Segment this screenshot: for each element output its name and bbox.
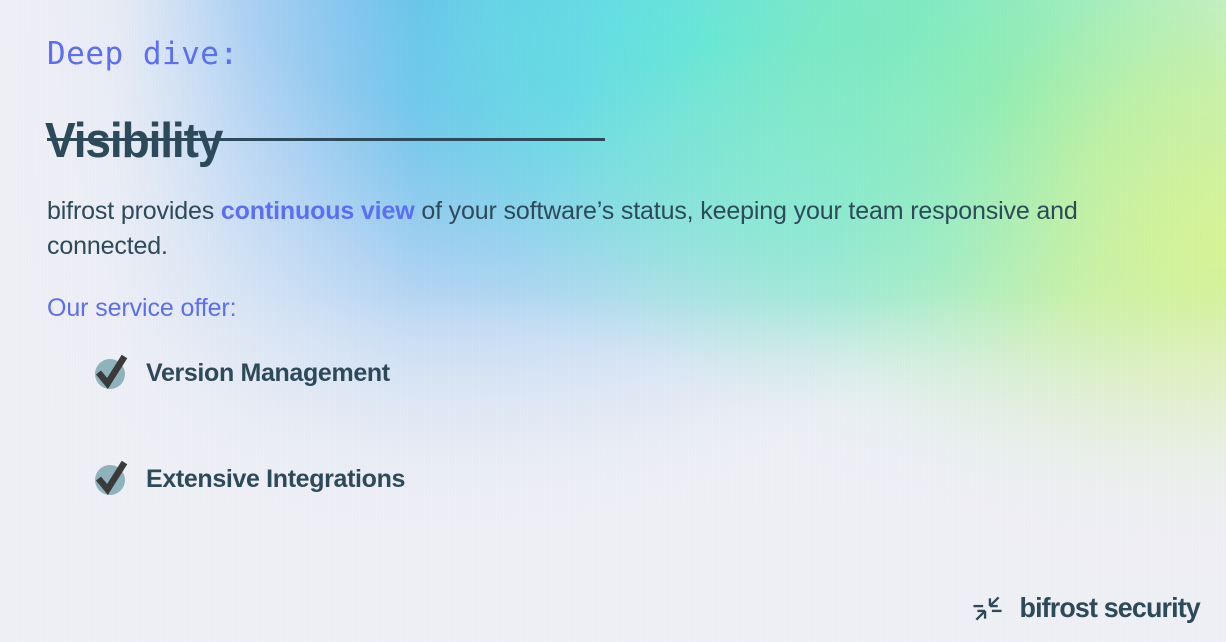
lede-highlight: continuous view [221,197,415,225]
eyebrow-label: Deep dive: [47,36,239,72]
list-item-label: Extensive Integrations [146,465,405,494]
lede-text-before: bifrost provides [47,197,221,225]
list-item: Version Management [93,352,405,394]
brand-name: bifrost security [1020,592,1200,624]
converging-arrows-icon [972,593,1003,624]
service-offer-label: Our service offer: [47,294,236,323]
title-underline-rule [47,138,605,141]
check-circle-icon [93,458,135,500]
check-circle-icon [93,352,135,394]
service-offer-list: Version Management Extensive Integration… [93,352,405,500]
brand-lockup: bifrost security [972,592,1200,624]
slide-canvas: Deep dive: Visibility bifrost provides c… [0,0,1226,642]
list-item-label: Version Management [146,359,390,388]
list-item: Extensive Integrations [93,458,405,500]
slide-content: Deep dive: Visibility bifrost provides c… [0,0,1226,642]
lede-paragraph: bifrost provides continuous view of your… [47,194,1107,264]
